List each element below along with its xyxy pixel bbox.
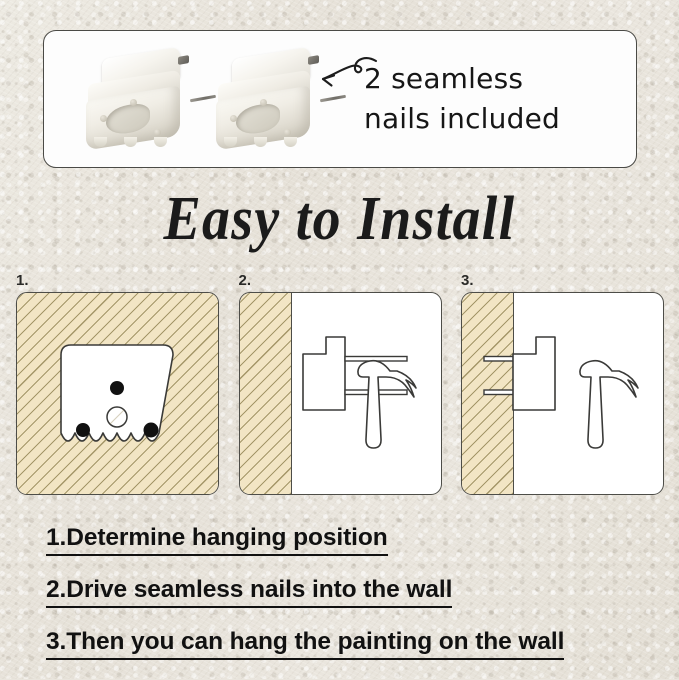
- step-3-number: 3.: [461, 272, 664, 289]
- step-2-column: 2.: [239, 272, 442, 495]
- seamless-nails-card: 2 seamless nails included: [43, 30, 637, 168]
- hook-dimple: [100, 115, 107, 122]
- instruction-step-2: 2.Drive seamless nails into the wall: [46, 576, 452, 608]
- hammer-icon: [357, 361, 415, 448]
- page-title: Easy to Install: [34, 184, 645, 255]
- hook-dimple: [260, 99, 267, 106]
- hook-foot: [124, 137, 137, 147]
- step-1-column: 1.: [16, 272, 219, 495]
- hook-side-profile: [303, 337, 345, 410]
- hook-nail-head: [178, 55, 189, 65]
- hook-foot: [284, 137, 297, 147]
- mounting-hole-right: [144, 423, 159, 438]
- nail-hook-photo-group: [44, 31, 364, 167]
- step-3-panel: [461, 292, 664, 495]
- hook-dimple: [284, 129, 291, 136]
- hook-dimple: [154, 129, 161, 136]
- step-1-panel: [16, 292, 219, 495]
- hook-dimple: [230, 115, 237, 122]
- instructions-list: 1.Determine hanging position 2.Drive sea…: [46, 524, 646, 680]
- nail-hook-product-left: [80, 53, 198, 149]
- instruction-step-1: 1.Determine hanging position: [46, 524, 388, 556]
- instruction-row: 3.Then you can hang the painting on the …: [46, 628, 646, 680]
- hook-foot: [154, 137, 167, 147]
- step-panels-row: 1. 2.: [16, 272, 664, 495]
- instruction-row: 1.Determine hanging position: [46, 524, 646, 576]
- step-3-column: 3.: [461, 272, 664, 495]
- instruction-step-3: 3.Then you can hang the painting on the …: [46, 628, 564, 660]
- hook-nail-metal: [320, 95, 346, 103]
- seamless-nails-callout-text: 2 seamless nails included: [364, 59, 560, 139]
- hook-side-profile-mounted: [513, 337, 555, 410]
- step-1-number: 1.: [16, 272, 219, 289]
- hook-dimple: [130, 99, 137, 106]
- hammer-icon: [580, 361, 638, 448]
- mounting-hole-left: [76, 423, 90, 437]
- step-2-panel: [239, 292, 442, 495]
- mounting-hole-top: [110, 381, 124, 395]
- curved-arrow-left-icon: [306, 53, 380, 93]
- instruction-row: 2.Drive seamless nails into the wall: [46, 576, 646, 628]
- step-2-number: 2.: [239, 272, 442, 289]
- hook-foot: [254, 137, 267, 147]
